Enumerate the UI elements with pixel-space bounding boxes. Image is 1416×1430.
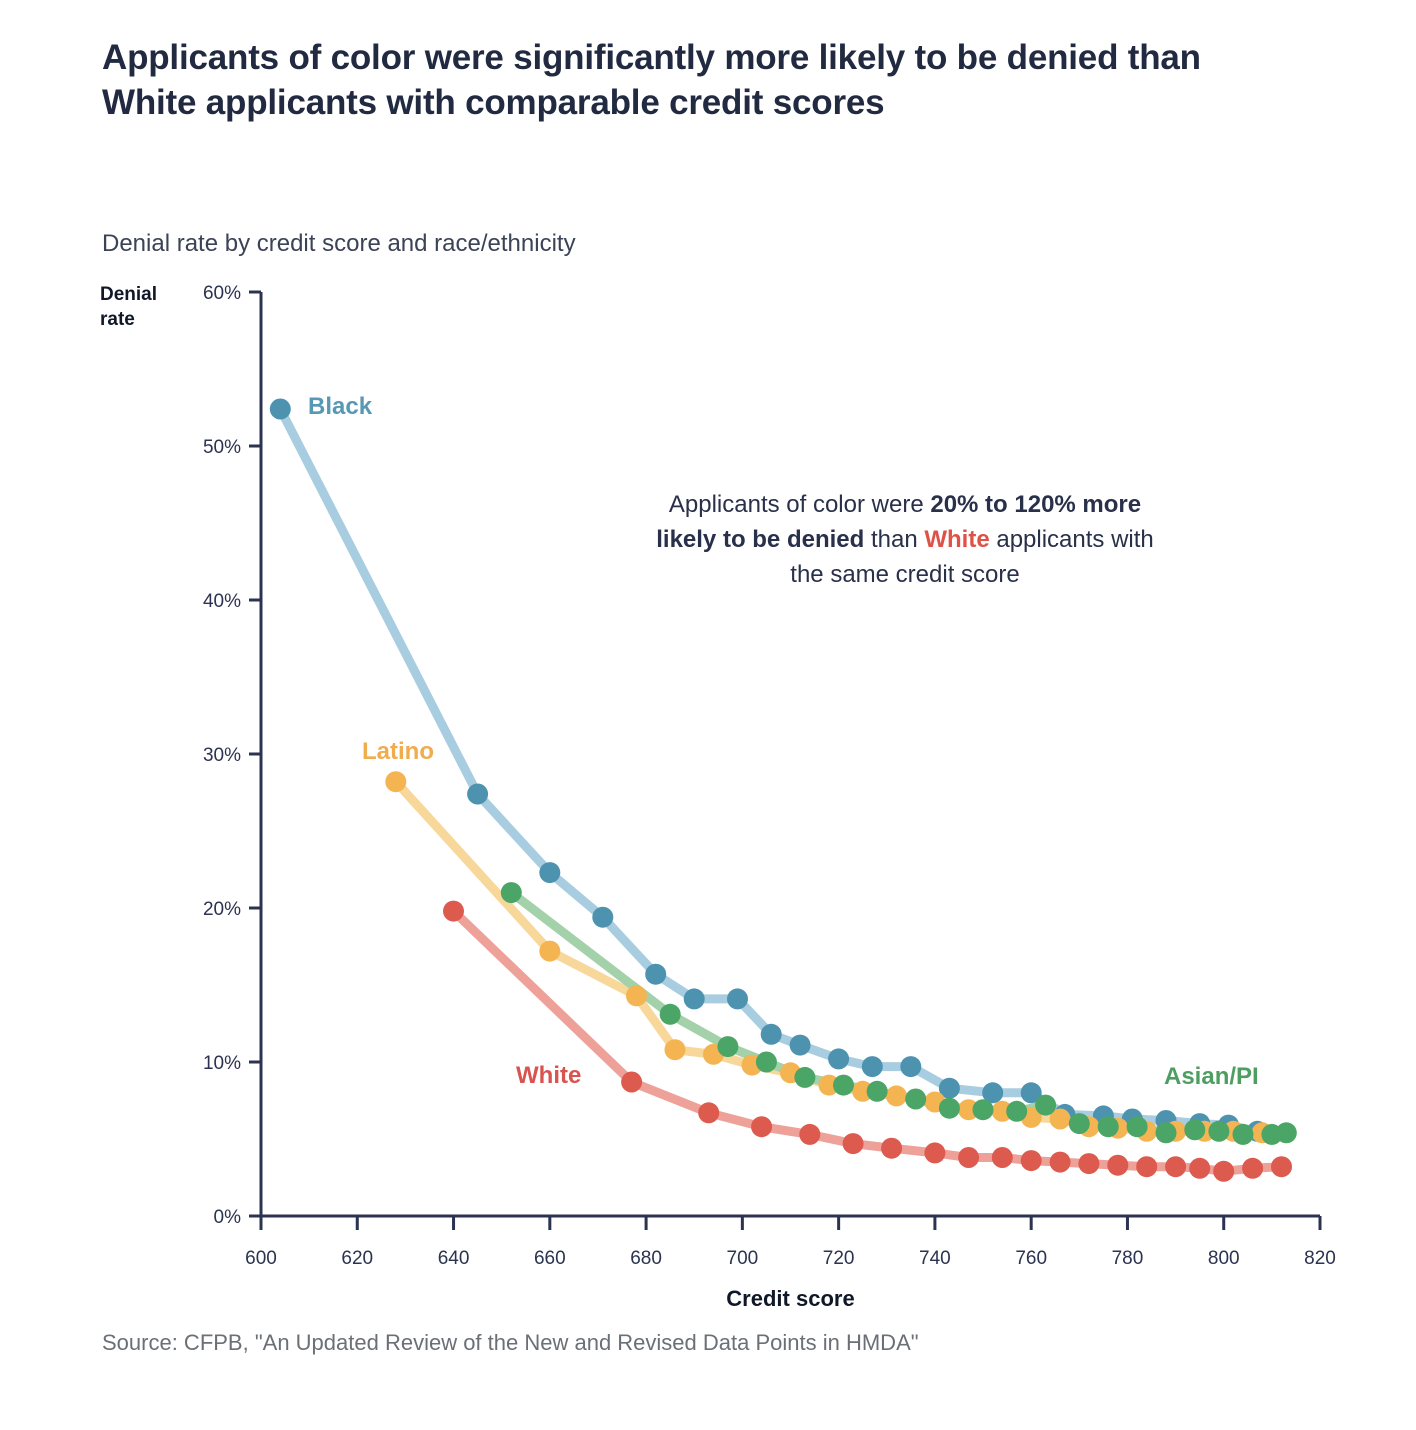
data-point-white [1242, 1158, 1263, 1179]
y-axis-tick-label: 10% [203, 1053, 241, 1074]
data-point-asian-pi [756, 1052, 777, 1073]
y-axis-tick-label: 60% [203, 283, 241, 304]
data-point-white [992, 1147, 1013, 1168]
data-point-asian-pi [717, 1036, 738, 1057]
data-point-black [467, 784, 488, 805]
x-axis-tick-label: 720 [823, 1248, 855, 1269]
x-axis-tick-label: 620 [341, 1248, 373, 1269]
data-point-white [1189, 1158, 1210, 1179]
y-axis-tick-label: 30% [203, 745, 241, 766]
data-point-white [1136, 1156, 1157, 1177]
data-point-white [799, 1124, 820, 1145]
data-point-latino [626, 985, 647, 1006]
chart-page: Applicants of color were significantly m… [0, 0, 1416, 1430]
data-point-asian-pi [905, 1089, 926, 1110]
series-line-black [280, 409, 1257, 1131]
data-point-white [443, 901, 464, 922]
x-axis-tick-label: 780 [1112, 1248, 1144, 1269]
data-point-asian-pi [1184, 1119, 1205, 1140]
data-point-white [1165, 1156, 1186, 1177]
data-point-asian-pi [1156, 1122, 1177, 1143]
x-axis-tick-label: 680 [630, 1248, 662, 1269]
data-point-black [761, 1024, 782, 1045]
data-point-white [1271, 1156, 1292, 1177]
line-chart: 0%10%20%30%40%50%60%60062064066068070072… [0, 0, 1416, 1430]
source-note: Source: CFPB, "An Updated Review of the … [102, 1330, 1302, 1356]
data-point-white [958, 1147, 979, 1168]
data-point-latino [385, 771, 406, 792]
data-point-white [1078, 1153, 1099, 1174]
data-point-asian-pi [1035, 1095, 1056, 1116]
x-axis-tick-label: 800 [1208, 1248, 1240, 1269]
data-point-black [592, 907, 613, 928]
data-point-asian-pi [833, 1075, 854, 1096]
y-axis-tick-label: 40% [203, 591, 241, 612]
x-axis-title: Credit score [726, 1286, 854, 1311]
x-axis-tick-label: 820 [1304, 1248, 1336, 1269]
data-point-black [727, 988, 748, 1009]
data-point-latino [665, 1039, 686, 1060]
data-point-asian-pi [1208, 1121, 1229, 1142]
data-point-asian-pi [1098, 1116, 1119, 1137]
x-axis-tick-label: 760 [1015, 1248, 1047, 1269]
x-axis-tick-label: 660 [534, 1248, 566, 1269]
data-point-white [1213, 1161, 1234, 1182]
data-point-white [843, 1133, 864, 1154]
data-point-white [1021, 1150, 1042, 1171]
x-axis-tick-label: 740 [919, 1248, 951, 1269]
data-point-white [881, 1138, 902, 1159]
y-axis-tick-label: 50% [203, 437, 241, 458]
data-point-asian-pi [973, 1099, 994, 1120]
data-point-black [684, 988, 705, 1009]
data-point-asian-pi [939, 1098, 960, 1119]
data-point-white [924, 1142, 945, 1163]
data-point-black [790, 1035, 811, 1056]
data-point-black [900, 1056, 921, 1077]
data-point-asian-pi [1006, 1101, 1027, 1122]
data-point-latino [886, 1085, 907, 1106]
data-point-asian-pi [1233, 1124, 1254, 1145]
y-axis-tick-label: 20% [203, 899, 241, 920]
data-point-black [645, 964, 666, 985]
x-axis-tick-label: 600 [245, 1248, 277, 1269]
data-point-asian-pi [501, 882, 522, 903]
data-point-white [698, 1102, 719, 1123]
data-point-asian-pi [1127, 1116, 1148, 1137]
data-point-black [539, 862, 560, 883]
data-point-asian-pi [660, 1004, 681, 1025]
y-axis-tick-label: 0% [214, 1207, 242, 1228]
data-point-white [1050, 1152, 1071, 1173]
data-point-black [862, 1056, 883, 1077]
data-point-latino [539, 941, 560, 962]
data-point-asian-pi [794, 1067, 815, 1088]
data-point-white [751, 1116, 772, 1137]
data-point-white [621, 1072, 642, 1093]
data-point-asian-pi [1276, 1122, 1297, 1143]
data-point-white [1107, 1155, 1128, 1176]
data-point-asian-pi [1069, 1113, 1090, 1134]
data-point-black [270, 399, 291, 420]
x-axis-tick-label: 640 [438, 1248, 470, 1269]
x-axis-tick-label: 700 [727, 1248, 759, 1269]
data-point-black [828, 1048, 849, 1069]
data-point-asian-pi [867, 1081, 888, 1102]
